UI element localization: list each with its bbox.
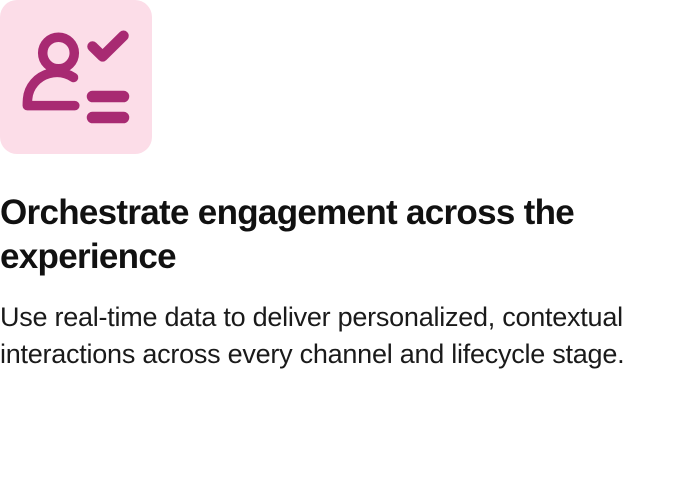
person-head-icon — [43, 37, 75, 69]
card-heading: Orchestrate engagement across the experi… — [0, 191, 620, 279]
feature-card: Orchestrate engagement across the experi… — [0, 0, 694, 500]
card-description: Use real-time data to deliver personaliz… — [0, 299, 630, 373]
checkmark-icon — [93, 36, 124, 57]
icon-tile — [0, 0, 152, 154]
person-check-list-icon — [0, 0, 152, 154]
person-body-icon — [27, 72, 75, 105]
